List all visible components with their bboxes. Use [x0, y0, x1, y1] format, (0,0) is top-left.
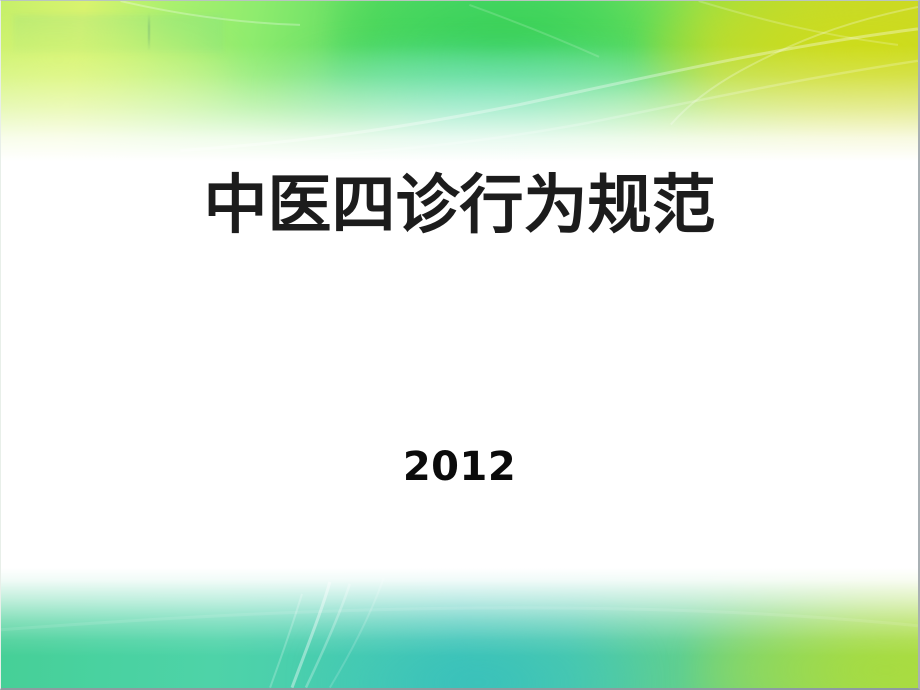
- slide-subtitle-year: 2012: [1, 444, 918, 490]
- slide-title: 中医四诊行为规范: [1, 173, 918, 241]
- slide-content: 中医四诊行为规范 2012: [1, 1, 918, 688]
- title-slide: 中医四诊行为规范 2012: [0, 0, 920, 690]
